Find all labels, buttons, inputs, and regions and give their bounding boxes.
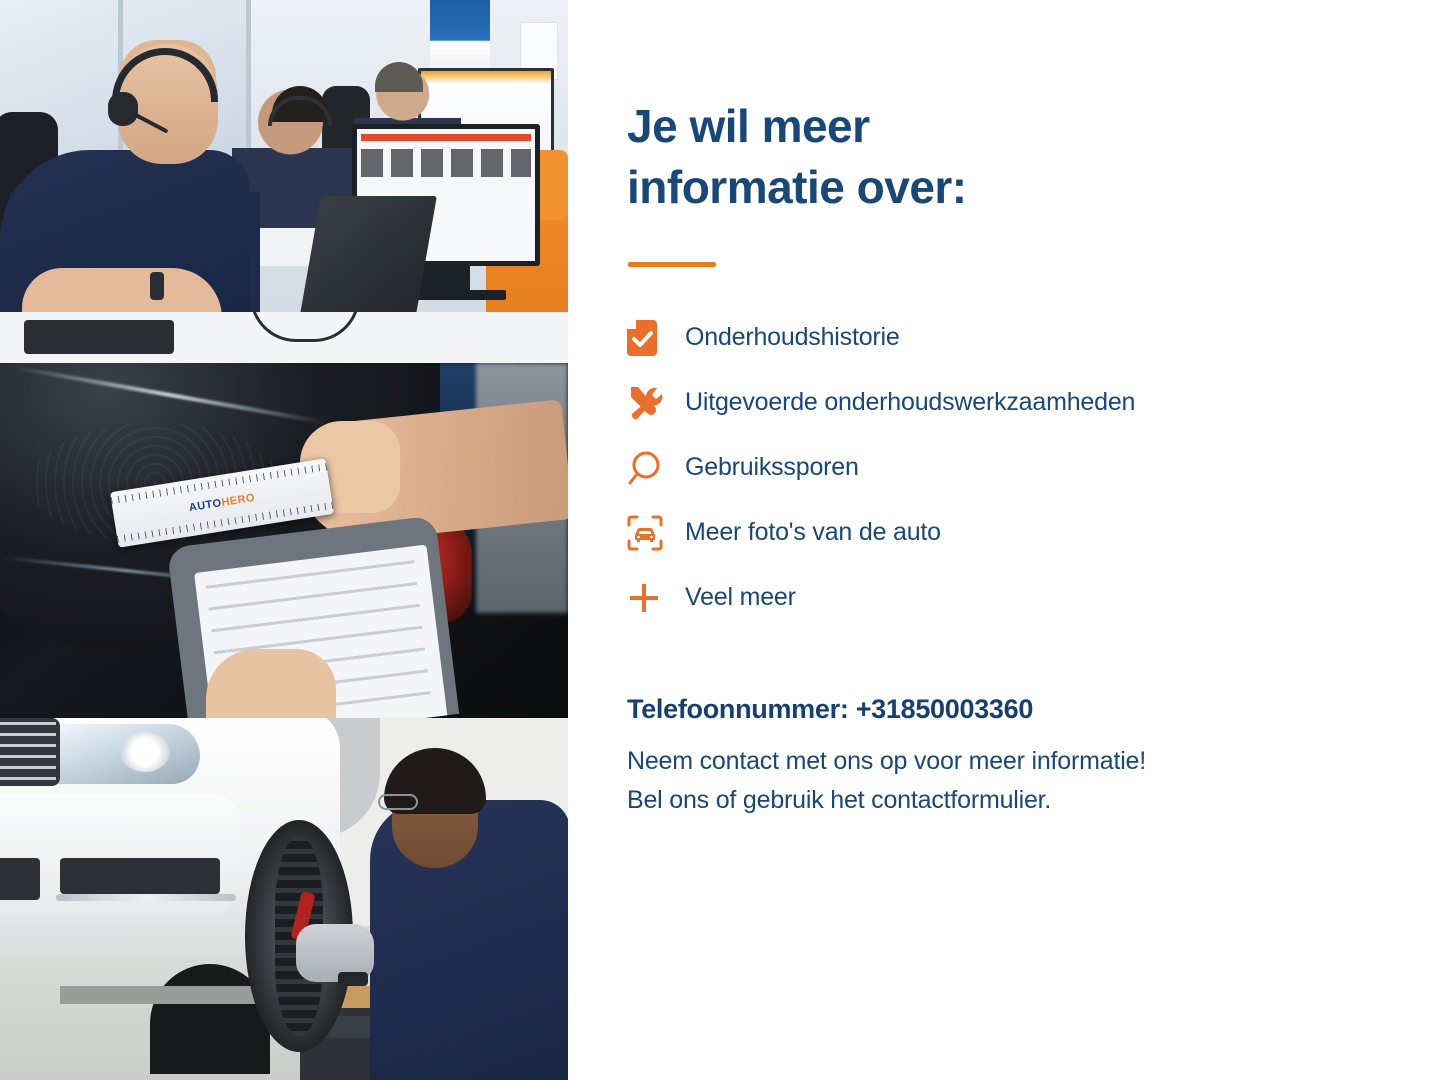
headset-earcup [108,92,138,126]
content-panel: Je wil meer informatie over: We geven je… [568,0,1440,1080]
feature-label: Veel meer [685,583,796,612]
car-inspection-ruler-photo: AUTOHERO [0,363,568,718]
feature-item-onderhoudswerkzaamheden: Uitgevoerde onderhoudswerkzaamheden [627,370,1387,435]
eyeglasses-icon [378,794,418,810]
autohero-logo: AUTOHERO [188,492,256,514]
call-center-agents-photo: AUTO [0,0,568,363]
feature-list: Onderhoudshistorie Uitgevoerde onderhoud… [627,305,1387,630]
feature-item-veel-meer: Veel meer [627,565,1387,630]
document-check-icon [627,320,685,356]
feature-label: Uitgevoerde onderhoudswerkzaamheden [685,388,1135,417]
inspector-hand-holding-tablet [206,649,336,718]
feature-item-onderhoudshistorie: Onderhoudshistorie [627,305,1387,370]
feature-label: Gebruikssporen [685,453,859,482]
car-grille [0,718,60,786]
feature-label: Onderhoudshistorie [685,323,900,352]
wristwatch [338,972,368,986]
car-headlight [40,724,200,784]
bumper-vent [60,858,220,894]
feature-label: Meer foto's van de auto [685,518,941,547]
page-title-line1: Je wil meer [627,100,870,152]
promo-page: AUTO [0,0,1440,1080]
chrome-trim [56,894,236,901]
car-scan-icon [627,515,685,551]
magnifier-icon [627,450,685,486]
wristwatch [150,272,164,300]
tablet-on-desk [24,320,174,354]
contact-subtext-line1: Neem contact met ons op voor meer inform… [627,742,1387,781]
feature-item-gebruikssporen: Gebruikssporen [627,435,1387,500]
contact-subtext-line2: Bel ons of gebruik het contactformulier. [627,781,1387,820]
brand-text-auto: AUTO [188,497,222,514]
brand-text-hero: HERO [221,492,256,509]
page-title-line2: informatie over: [627,161,967,213]
mechanic-tire-photo: AUTOHERO [0,718,568,1080]
plus-icon [627,581,685,615]
bumper-vent [0,858,40,900]
title-divider [628,262,716,267]
feature-item-meer-fotos: Meer foto's van de auto [627,500,1387,565]
photo-column: AUTO [0,0,568,1080]
wrench-screwdriver-icon [627,385,685,421]
contact-subtext: Neem contact met ons op voor meer inform… [627,742,1387,820]
headlight-lens [120,732,170,772]
page-title: Je wil meer informatie over: [627,96,1147,218]
phone-number-line: Telefoonnummer: +31850003360 [627,694,1033,725]
